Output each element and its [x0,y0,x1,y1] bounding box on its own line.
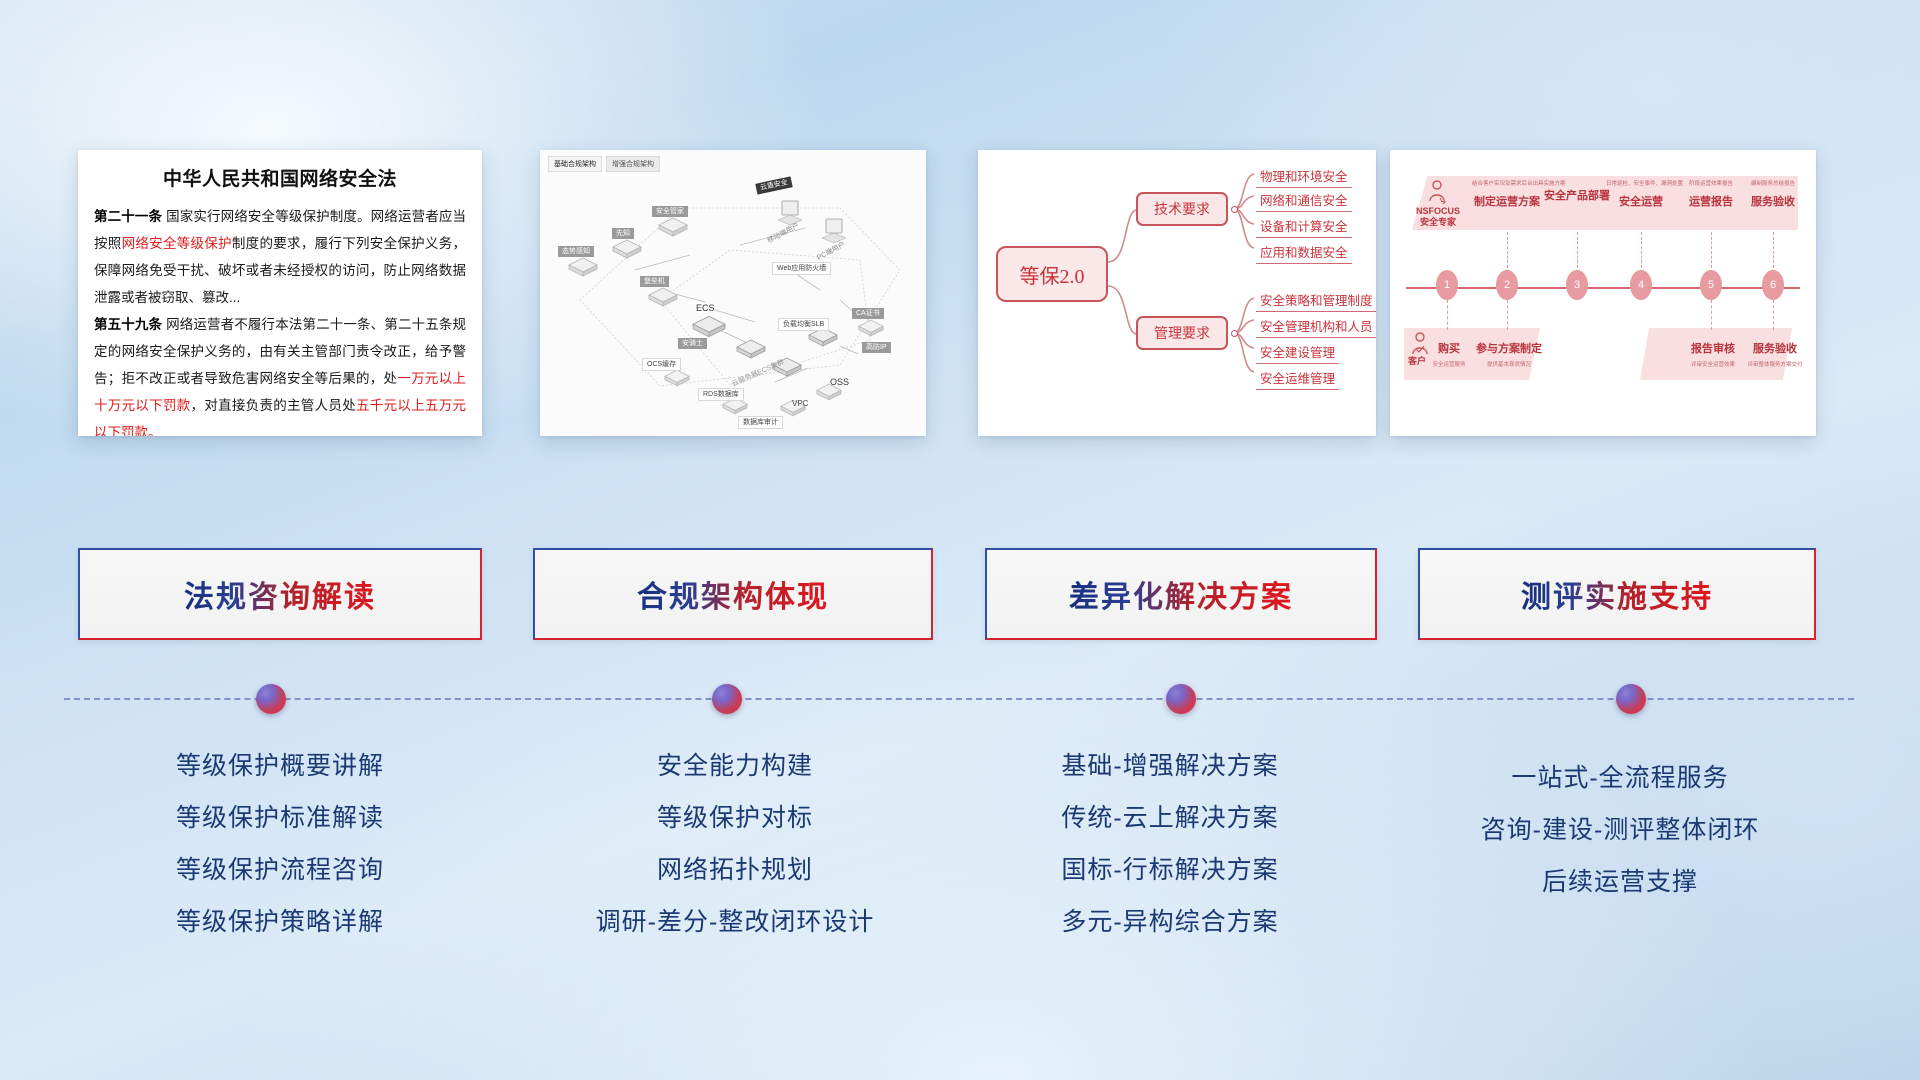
mindmap-leaf-device-computing-security: 设备和计算安全 [1256,216,1352,238]
timeline-top-step-2-desc: 结合客户实况及需求后台出具实施方案 [1472,182,1542,188]
category-button-row: 法规咨询解读 合规架构体现 差异化解决方案 测评实施支持 [0,548,1920,644]
timeline-bottom-step-4-title: 服务验收 [1738,340,1812,356]
cube-icon-ecs-cluster-a [736,338,766,360]
timeline-dash-6 [1773,232,1774,268]
list-item: 调研-差分-整改闭环设计 [520,896,950,948]
node-xianzhi: 先知 [612,228,634,239]
node-bastion-host: 堡垒机 [640,276,669,287]
mindmap-branch-technical: 技术要求 [1136,192,1228,226]
timeline-bottom-step-1-title: 购买 [1420,340,1478,356]
timeline-actor-expert: NSFOCUS 安全专家 [1410,206,1466,229]
cube-icon-bastion-host [648,286,678,308]
timeline-bottom-step-1: 购买 安全运营服务 [1420,340,1478,368]
timeline-dash-3 [1577,232,1578,268]
timeline-node-5[interactable]: 5 [1700,270,1722,300]
cube-icon-ecs [692,314,726,339]
node-rds-database: RDS数据库 [698,388,744,401]
timeline-top-step-5: 阶段运营效果报告 运营报告 [1676,182,1746,209]
list-item: 一站式-全流程服务 [1410,752,1830,804]
list-item: 咨询-建设-测评整体闭环 [1410,804,1830,856]
timeline-actor-expert-name-cn: 安全专家 [1410,217,1466,228]
timeline-dash-2 [1507,232,1508,268]
category-button-compliance-architecture-label: 合规架构体现 [637,572,829,616]
cube-icon-ca-certificate [858,318,884,338]
rail-dot-2 [712,684,742,714]
category-button-assessment-support-label: 测评实施支持 [1521,572,1713,616]
timeline-top-step-3-title: 安全产品部署 [1542,187,1612,203]
cube-icon-ocs [664,368,690,388]
timeline-actor-expert-name-en: NSFOCUS [1410,206,1466,217]
timeline-node-6[interactable]: 6 [1762,270,1784,300]
mindmap-leaf-security-construction-management: 安全建设管理 [1256,342,1339,364]
mindmap-leaf-security-ops-management: 安全运维管理 [1256,368,1339,390]
node-ca-certificate: CA证书 [852,308,884,319]
timeline-top-step-6-desc: 编制服务总结报告 [1738,182,1808,188]
rail-dot-3 [1166,684,1196,714]
mindmap: 等保2.0 技术要求 物理和环境安全 网络和通信安全 设备和计算安全 应用和数据… [978,150,1376,436]
category-button-compliance-architecture[interactable]: 合规架构体现 [533,548,933,640]
node-ecs: ECS [692,302,719,315]
law-article-21-label: 第二十一条 [94,209,162,224]
timeline-bottom-step-2: 参与方案制定 提供基本现状情况 [1472,340,1546,368]
timeline-node-2[interactable]: 2 [1496,270,1518,300]
architecture-diagram: 基础合规架构 增强合规架构 [540,150,926,436]
timeline-dash-b4 [1773,300,1774,330]
timeline-node-1[interactable]: 1 [1436,270,1458,300]
node-vpc: VPC [788,398,812,410]
law-article-59-label: 第五十九条 [94,317,162,332]
timeline-top-step-5-title: 运营报告 [1676,193,1746,209]
mindmap-root: 等保2.0 [996,246,1108,302]
timeline-dash-b1 [1447,300,1448,330]
category-button-differentiated-solution[interactable]: 差异化解决方案 [985,548,1377,640]
expert-person-icon [1426,180,1448,204]
timeline-bottom-step-2-title: 参与方案制定 [1472,340,1546,356]
node-web-application-firewall: Web应用防火墙 [772,262,831,275]
list-item: 国标-行标解决方案 [960,844,1380,896]
image-card-row: 中华人民共和国网络安全法 第二十一条 国家实行网络安全等级保护制度。网络运营者应… [0,150,1920,440]
list-item: 等级保护流程咨询 [70,844,490,896]
law-body: 第二十一条 国家实行网络安全等级保护制度。网络运营者应当按照网络安全等级保护制度… [94,203,466,436]
timeline-rail [64,698,1854,700]
timeline-bottom-step-2-desc: 提供基本现状情况 [1472,360,1546,368]
collapse-dot-icon-management[interactable] [1231,330,1238,337]
service-list-differentiated-solution: 基础-增强解决方案 传统-云上解决方案 国标-行标解决方案 多元-异构综合方案 [960,740,1380,948]
list-item: 多元-异构综合方案 [960,896,1380,948]
timeline-top-step-5-desc: 阶段运营效果报告 [1676,182,1746,188]
category-button-differentiated-solution-label: 差异化解决方案 [1069,572,1293,616]
card-compliance-architecture: 基础合规架构 增强合规架构 [540,150,926,436]
list-item: 网络拓扑规划 [520,844,950,896]
node-high-defense-ip: 高防IP [862,342,891,353]
node-situational-awareness: 态势感知 [558,246,594,257]
category-button-regulation-consulting-label: 法规咨询解读 [184,572,376,616]
list-item: 等级保护概要讲解 [70,740,490,792]
mindmap-branch-management: 管理要求 [1136,316,1228,350]
cube-icon-xianzhi [612,238,642,260]
card-dengbao-mindmap: 等保2.0 技术要求 物理和环境安全 网络和通信安全 设备和计算安全 应用和数据… [978,150,1376,436]
timeline-top-step-4: 日常巡检、安全事件、漏洞处置 安全运营 [1606,182,1676,209]
list-item: 后续运营支撑 [1410,856,1830,908]
timeline-bottom-step-4-desc: 评审整体服务方案交付 [1738,360,1812,368]
timeline-node-4[interactable]: 4 [1630,270,1652,300]
category-button-regulation-consulting[interactable]: 法规咨询解读 [78,548,482,640]
node-ocs-cache: OCS缓存 [642,358,681,371]
list-item: 基础-增强解决方案 [960,740,1380,792]
list-item: 传统-云上解决方案 [960,792,1380,844]
cube-icon-situational-awareness [568,256,598,278]
mindmap-leaf-application-data-security: 应用和数据安全 [1256,242,1352,264]
node-anqishi: 安骑士 [678,338,707,349]
law-document: 中华人民共和国网络安全法 第二十一条 国家实行网络安全等级保护制度。网络运营者应… [78,150,482,436]
slide-canvas: 中华人民共和国网络安全法 第二十一条 国家实行网络安全等级保护制度。网络运营者应… [0,0,1920,1080]
timeline-bottom-step-1-desc: 安全运营服务 [1420,360,1478,368]
timeline-top-step-4-title: 安全运营 [1606,193,1676,209]
node-oss: OSS [826,376,853,389]
mindmap-leaf-network-communication-security: 网络和通信安全 [1256,190,1352,212]
timeline-top-step-6-title: 服务验收 [1738,193,1808,209]
service-timeline: NSFOCUS 安全专家 结合客户实况及需求后台出具实施方案 制定运营方案 安全… [1390,150,1816,436]
timeline-top-step-2-title: 制定运营方案 [1472,193,1542,209]
timeline-dash-b3 [1711,300,1712,330]
service-list-regulation-consulting: 等级保护概要讲解 等级保护标准解读 等级保护流程咨询 等级保护策略详解 [70,740,490,948]
timeline-top-step-4-desc: 日常巡检、安全事件、漏洞处置 [1606,182,1676,188]
timeline-top-step-2: 结合客户实况及需求后台出具实施方案 制定运营方案 [1472,182,1542,209]
timeline-top-step-3: 安全产品部署 [1542,182,1612,203]
list-item: 等级保护对标 [520,792,950,844]
timeline-top-step-6: 编制服务总结报告 服务验收 [1738,182,1808,209]
cube-icon-security-butler [658,216,688,238]
service-list-assessment-support: 一站式-全流程服务 咨询-建设-测评整体闭环 后续运营支撑 [1410,752,1830,908]
list-item: 等级保护策略详解 [70,896,490,948]
card-cybersecurity-law: 中华人民共和国网络安全法 第二十一条 国家实行网络安全等级保护制度。网络运营者应… [78,150,482,436]
collapse-dot-icon-technical[interactable] [1231,206,1238,213]
timeline-dash-4 [1641,232,1642,268]
law-title: 中华人民共和国网络安全法 [94,164,466,191]
mindmap-leaf-physical-environment-security: 物理和环境安全 [1256,166,1352,188]
rail-dot-4 [1616,684,1646,714]
category-button-assessment-support[interactable]: 测评实施支持 [1418,548,1816,640]
card-service-timeline: NSFOCUS 安全专家 结合客户实况及需求后台出具实施方案 制定运营方案 安全… [1390,150,1816,436]
law-article-21-highlight: 网络安全等级保护 [122,236,232,251]
timeline-dash-5 [1711,232,1712,268]
timeline-node-3[interactable]: 3 [1566,270,1588,300]
service-list-compliance-architecture: 安全能力构建 等级保护对标 网络拓扑规划 调研-差分-整改闭环设计 [520,740,950,948]
node-security-butler: 安全管家 [652,206,688,217]
timeline-axis [1406,287,1800,289]
rail-dot-1 [256,684,286,714]
timeline-dash-b2 [1507,300,1508,330]
list-item: 安全能力构建 [520,740,950,792]
timeline-rail-line [64,698,1854,700]
law-article-59-text-2: ，对直接负责的主管人员处 [191,398,356,413]
node-database-audit: 数据库审计 [738,416,783,429]
mindmap-leaf-security-policy-system: 安全策略和管理制度 [1256,290,1376,312]
list-item: 等级保护标准解读 [70,792,490,844]
mindmap-leaf-security-org-personnel: 安全管理机构和人员 [1256,316,1376,338]
timeline-bottom-step-4: 服务验收 评审整体服务方案交付 [1738,340,1812,368]
node-load-balancer-slb: 负载均衡SLB [778,318,829,331]
